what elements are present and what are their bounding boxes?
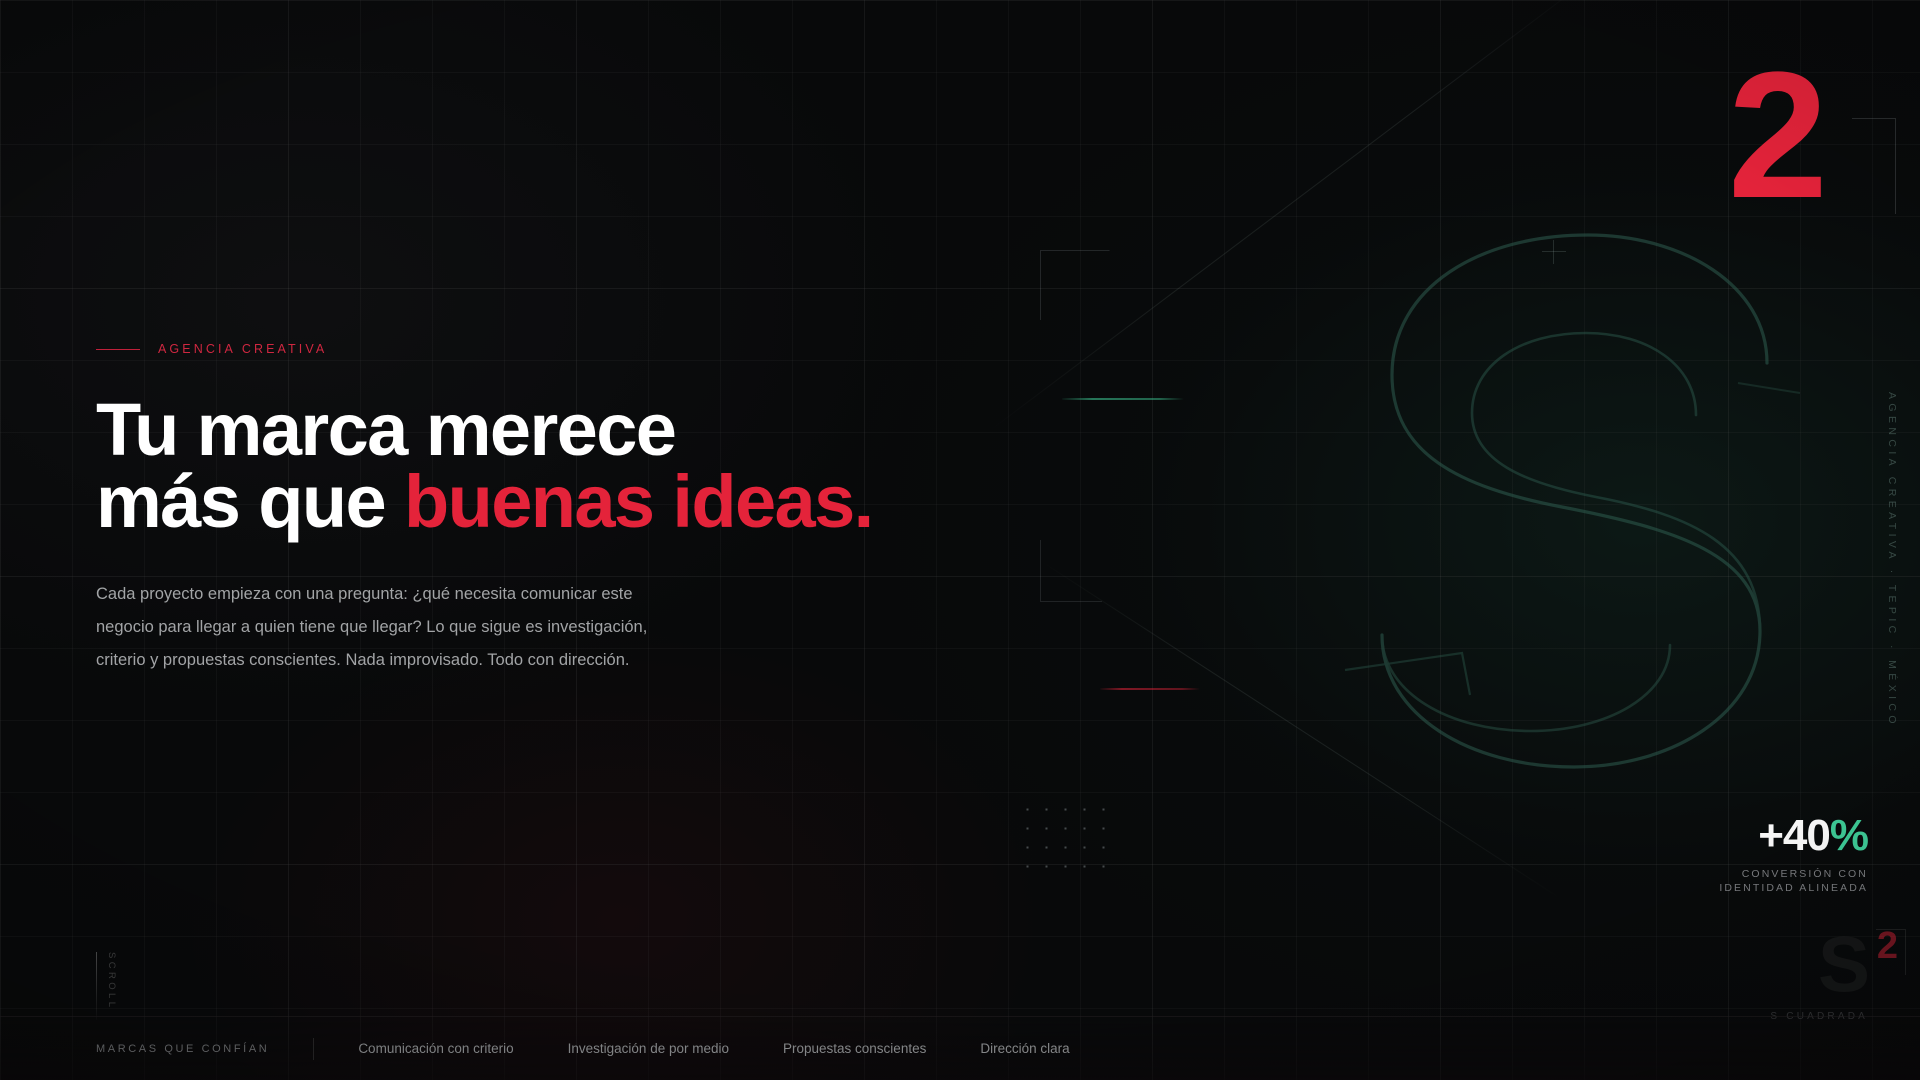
stat-number: +40	[1758, 811, 1830, 860]
logo-mark: S 2	[1818, 925, 1868, 1003]
stat-caption: CONVERSIÓN CON IDENTIDAD ALINEADA	[1719, 867, 1868, 895]
brand-logo[interactable]: S 2 S CUADRADA	[1770, 925, 1868, 1022]
hero-eyebrow-label: AGENCIA CREATIVA	[158, 342, 327, 356]
watermark-s-letter	[1330, 215, 1850, 825]
accent-rule-teal	[1062, 398, 1184, 400]
corner-bracket-top-right	[1852, 118, 1896, 214]
dot-matrix-decoration	[1018, 800, 1114, 880]
footer-link-propuestas[interactable]: Propuestas conscientes	[783, 1041, 926, 1056]
footer-link-comunicacion[interactable]: Comunicación con criterio	[358, 1041, 513, 1056]
corner-bracket-mid-bottom	[1040, 540, 1102, 602]
footer-link-direccion[interactable]: Dirección clara	[980, 1041, 1069, 1056]
stat-caption-line-1: CONVERSIÓN CON	[1719, 867, 1868, 881]
accent-rule-red	[1100, 688, 1200, 690]
headline-accent-part: buenas ideas.	[404, 460, 873, 543]
stat-value: +40%	[1719, 814, 1868, 858]
footer-bar: MARCAS QUE CONFÍAN Comunicación con crit…	[0, 1016, 1920, 1080]
corner-bracket-mid-left	[1040, 250, 1110, 320]
hero-eyebrow: AGENCIA CREATIVA	[96, 342, 956, 356]
headline-line-1: Tu marca merece	[96, 394, 956, 466]
stat-caption-line-2: IDENTIDAD ALINEADA	[1719, 881, 1868, 895]
hero-page: 2 AGENCIA CREATIVA Tu marca merece más q…	[0, 0, 1920, 1080]
headline-plain-part: más que	[96, 460, 404, 543]
logo-letter: S	[1818, 920, 1868, 1008]
page-title: Tu marca merece más que buenas ideas.	[96, 394, 956, 538]
eyebrow-dash-icon	[96, 349, 140, 350]
hero-content: AGENCIA CREATIVA Tu marca merece más que…	[96, 342, 956, 677]
logo-corner-bracket-icon	[1876, 929, 1906, 975]
decorative-diagonal-line-1	[990, 0, 1598, 431]
stat-block: +40% CONVERSIÓN CON IDENTIDAD ALINEADA	[1719, 814, 1868, 895]
footer-divider	[313, 1038, 314, 1060]
headline-line-2: más que buenas ideas.	[96, 466, 956, 538]
scroll-indicator[interactable]: SCROLL	[96, 952, 117, 1020]
stat-unit: %	[1830, 811, 1868, 860]
hero-numeral-2: 2	[1728, 46, 1824, 226]
footer-links: Comunicación con criterio Investigación …	[358, 1041, 1069, 1056]
scroll-label: SCROLL	[106, 952, 117, 1010]
hero-description: Cada proyecto empieza con una pregunta: …	[96, 578, 656, 677]
decorative-diagonal-line-2	[1040, 560, 1561, 899]
vertical-location-label: AGENCIA CREATIVA · TEPIC · MÉXICO	[1886, 392, 1898, 728]
footer-link-investigacion[interactable]: Investigación de por medio	[568, 1041, 729, 1056]
footer-label: MARCAS QUE CONFÍAN	[96, 1043, 269, 1055]
scroll-line-icon	[96, 952, 97, 1020]
